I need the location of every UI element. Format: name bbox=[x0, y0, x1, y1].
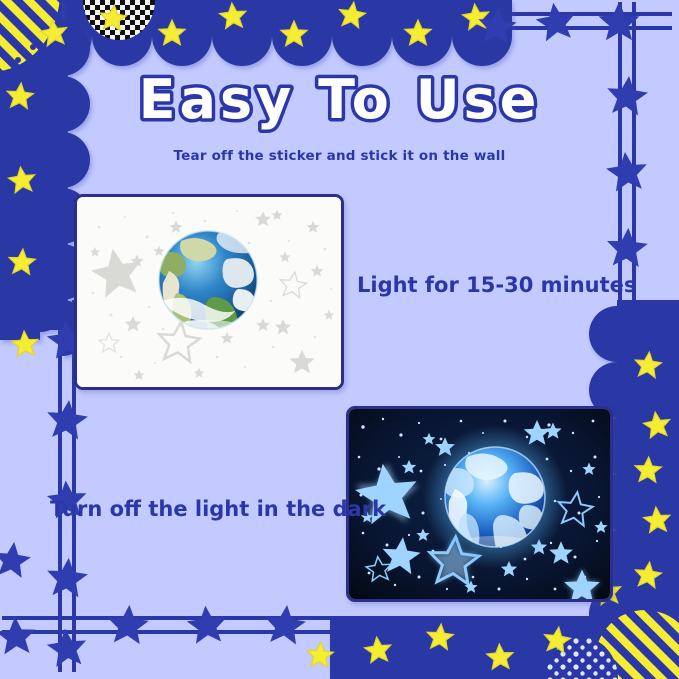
poster-content: Easy To Use Tear off the sticker and sti… bbox=[0, 0, 679, 679]
poster-root: Easy To Use Tear off the sticker and sti… bbox=[0, 0, 679, 679]
night-scene bbox=[349, 409, 610, 599]
caption-light: Light for 15-30 minutes bbox=[357, 273, 636, 297]
daylight-scene bbox=[77, 197, 341, 387]
photo-light-state[interactable] bbox=[74, 194, 344, 390]
page-subtitle: Tear off the sticker and stick it on the… bbox=[0, 148, 679, 164]
svg-text:Easy To Use: Easy To Use bbox=[139, 68, 541, 131]
page-title: Easy To Use bbox=[0, 66, 679, 136]
caption-dark: Turn off the light in the dark bbox=[50, 497, 386, 521]
